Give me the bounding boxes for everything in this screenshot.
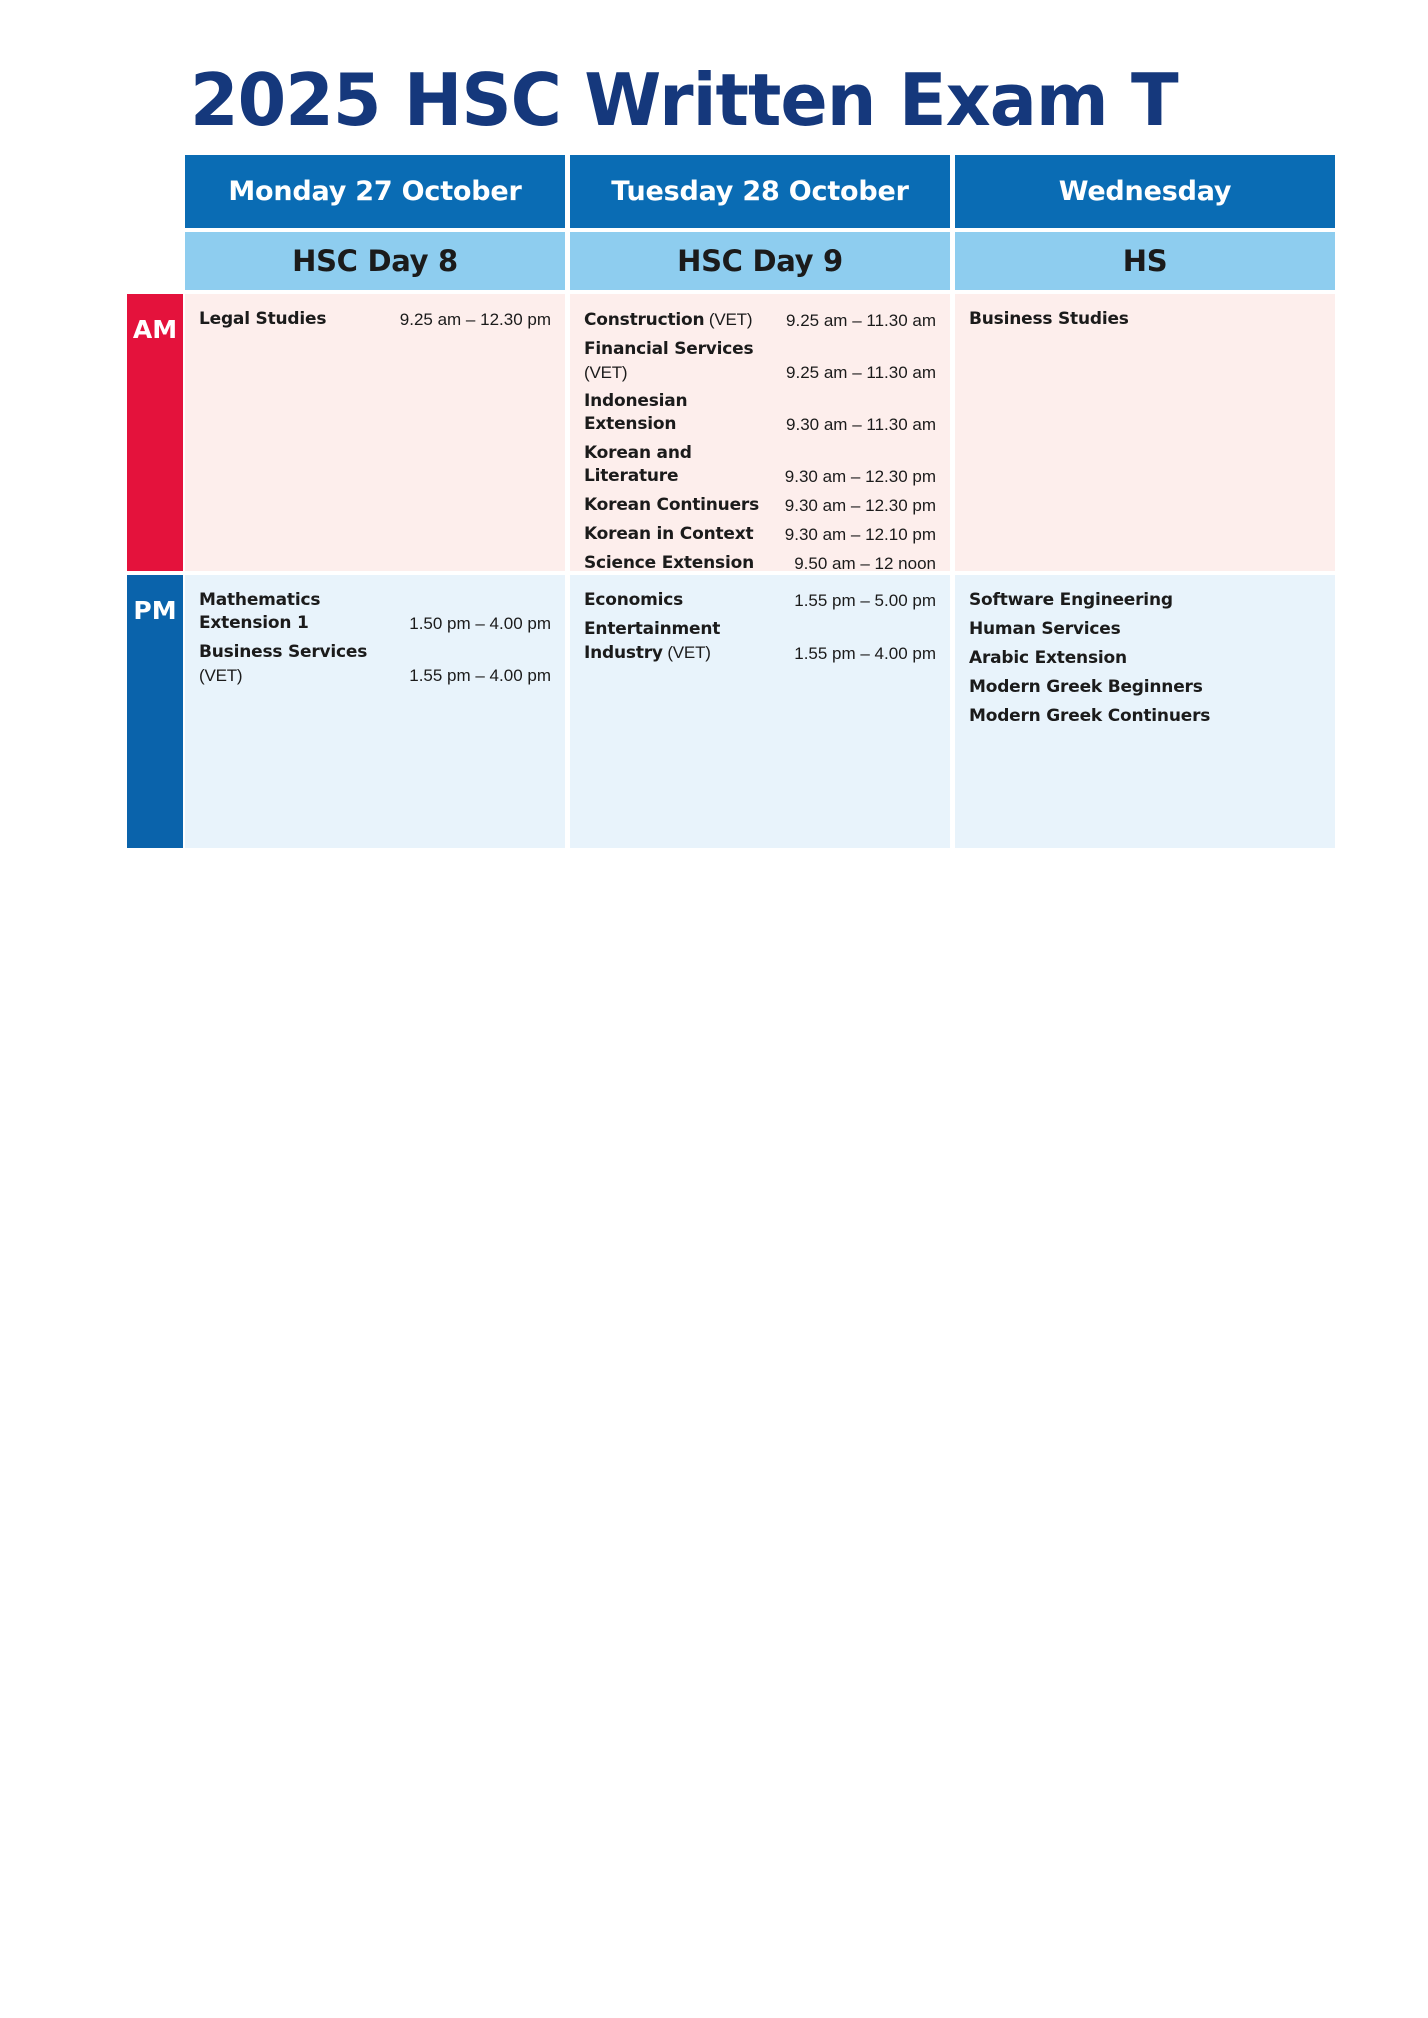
exam-entry: Business Services(VET)1.55 pm – 4.00 pm <box>199 641 551 687</box>
exam-subject-name: Construction (VET) <box>584 308 752 332</box>
pm-cell-tuesday: Economics1.55 pm – 5.00 pmEntertainment … <box>570 575 950 848</box>
vet-tag: (VET) <box>584 361 753 384</box>
date-header-monday: Monday 27 October <box>185 155 565 228</box>
exam-entry: Indonesian Extension9.30 am – 11.30 am <box>584 390 936 436</box>
am-session-label: AM <box>127 294 183 571</box>
day-column-tuesday: Tuesday 28 October <box>570 155 950 228</box>
exam-entry: Entertainment Industry (VET)1.55 pm – 4.… <box>584 618 936 665</box>
exam-time: 1.50 pm – 4.00 pm <box>409 612 551 635</box>
exam-entry: Modern Greek Beginners <box>969 676 1321 699</box>
hsc-day-label-tuesday: HSC Day 9 <box>570 232 950 290</box>
exam-entry: Science Extension9.50 am – 12 noon <box>584 552 936 575</box>
exam-subject-name: Modern Greek Continuers <box>969 705 1210 728</box>
exam-entry: Construction (VET)9.25 am – 11.30 am <box>584 308 936 332</box>
am-session-row: AM Legal Studies9.25 am – 12.30 pm Const… <box>127 294 1428 571</box>
exam-time: 9.30 am – 12.30 pm <box>785 465 936 488</box>
hsc-day-label-wednesday: HS <box>955 232 1335 290</box>
exam-entry: Financial Services(VET)9.25 am – 11.30 a… <box>584 338 936 384</box>
vet-tag: (VET) <box>704 310 752 329</box>
exam-entry: Korean Continuers9.30 am – 12.30 pm <box>584 494 936 517</box>
vet-tag: (VET) <box>663 643 711 662</box>
day-column-wednesday: Wednesday <box>955 155 1335 228</box>
hsc-day-cell-monday: HSC Day 8 <box>185 232 565 290</box>
exam-subject-name: Mathematics Extension 1 <box>199 589 399 635</box>
exam-subject-name: Indonesian Extension <box>584 390 776 436</box>
exam-time: 1.55 pm – 4.00 pm <box>794 642 936 665</box>
am-cell-wednesday: Business Studies <box>955 294 1335 571</box>
exam-time: 9.30 am – 12.10 pm <box>785 523 936 546</box>
marker-column-spacer-2 <box>127 232 183 290</box>
day-column-monday: Monday 27 October <box>185 155 565 228</box>
page-title: 2025 HSC Written Exam T <box>190 58 1428 142</box>
date-header-row: Monday 27 October Tuesday 28 October Wed… <box>127 155 1428 228</box>
exam-time: 9.30 am – 11.30 am <box>786 413 936 436</box>
exam-entry: Korean in Context9.30 am – 12.10 pm <box>584 523 936 546</box>
date-header-wednesday: Wednesday <box>955 155 1335 228</box>
hsc-day-label-monday: HSC Day 8 <box>185 232 565 290</box>
exam-time: 9.50 am – 12 noon <box>794 552 936 575</box>
exam-entry: Business Studies <box>969 308 1321 331</box>
am-cell-monday: Legal Studies9.25 am – 12.30 pm <box>185 294 565 571</box>
am-cell-tuesday: Construction (VET)9.25 am – 11.30 amFina… <box>570 294 950 571</box>
exam-time: 9.30 am – 12.30 pm <box>785 494 936 517</box>
exam-subject-name: Science Extension <box>584 552 754 575</box>
exam-subject-name: Human Services <box>969 618 1121 641</box>
date-header-tuesday: Tuesday 28 October <box>570 155 950 228</box>
pm-session-label: PM <box>127 575 183 848</box>
hsc-day-header-row: HSC Day 8 HSC Day 9 HS <box>127 232 1428 290</box>
exam-subject-name: Korean and Literature <box>584 442 775 488</box>
exam-subject-name: Economics <box>584 589 683 612</box>
hsc-day-cell-wednesday: HS <box>955 232 1335 290</box>
exam-subject-name: Business Studies <box>969 308 1129 331</box>
pm-cell-monday: Mathematics Extension 11.50 pm – 4.00 pm… <box>185 575 565 848</box>
exam-entry: Korean and Literature9.30 am – 12.30 pm <box>584 442 936 488</box>
exam-subject-name: Korean in Context <box>584 523 753 546</box>
exam-entry: Modern Greek Continuers <box>969 705 1321 728</box>
exam-entry: Mathematics Extension 11.50 pm – 4.00 pm <box>199 589 551 635</box>
exam-time: 9.25 am – 12.30 pm <box>400 308 551 331</box>
exam-time: 9.25 am – 11.30 am <box>786 361 936 384</box>
pm-cell-wednesday: Software EngineeringHuman ServicesArabic… <box>955 575 1335 848</box>
exam-entry: Legal Studies9.25 am – 12.30 pm <box>199 308 551 331</box>
exam-entry: Economics1.55 pm – 5.00 pm <box>584 589 936 612</box>
exam-subject-name: Software Engineering <box>969 589 1173 612</box>
vet-tag: (VET) <box>199 664 367 687</box>
hsc-day-cell-tuesday: HSC Day 9 <box>570 232 950 290</box>
exam-subject-name: Entertainment Industry (VET) <box>584 618 784 665</box>
exam-time: 1.55 pm – 5.00 pm <box>794 589 936 612</box>
exam-entry: Human Services <box>969 618 1321 641</box>
exam-entry: Arabic Extension <box>969 647 1321 670</box>
exam-subject-name: Legal Studies <box>199 308 326 331</box>
exam-subject-name: Business Services(VET) <box>199 641 367 687</box>
exam-time: 1.55 pm – 4.00 pm <box>409 664 551 687</box>
exam-timetable: Monday 27 October Tuesday 28 October Wed… <box>127 155 1428 848</box>
marker-column-spacer <box>127 155 183 228</box>
exam-subject-name: Modern Greek Beginners <box>969 676 1203 699</box>
exam-subject-name: Financial Services(VET) <box>584 338 753 384</box>
pm-session-row: PM Mathematics Extension 11.50 pm – 4.00… <box>127 575 1428 848</box>
exam-time: 9.25 am – 11.30 am <box>786 309 936 332</box>
exam-subject-name: Korean Continuers <box>584 494 759 517</box>
exam-entry: Software Engineering <box>969 589 1321 612</box>
exam-subject-name: Arabic Extension <box>969 647 1127 670</box>
